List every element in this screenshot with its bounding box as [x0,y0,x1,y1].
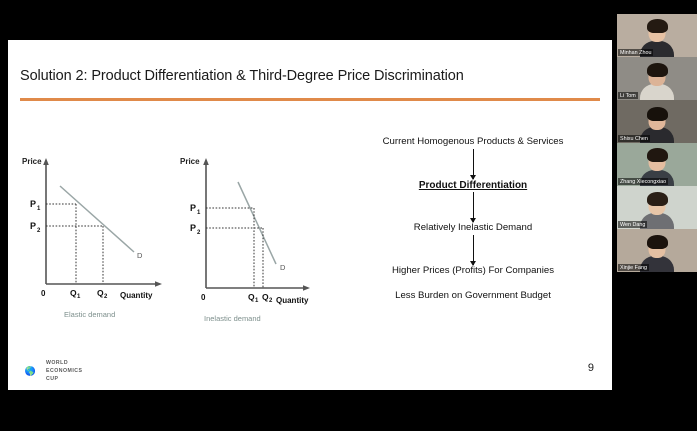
participant-tile[interactable]: Zhang Xiecongxiao [617,143,697,186]
svg-text:1: 1 [197,210,201,216]
sidebar-top-spacer [617,0,697,14]
participant-hair [647,235,668,249]
participant-tile[interactable]: Wen Dang [617,186,697,229]
participant-head [649,195,666,215]
participant-tile[interactable]: Li Tom [617,57,697,100]
chart-inelastic-demand: Price P 1 P 2 0 Q 1 Q 2 Quantity D Inela… [176,152,341,332]
participant-hair [647,19,668,33]
participant-hair [647,107,668,121]
svg-text:Price: Price [180,157,200,166]
globe-icon: 🌎 [20,361,41,382]
elastic-demand-svg: Price P 1 P 2 0 Q 1 Q 2 Quantity D [16,152,181,332]
flow-arrow-2 [473,192,474,222]
page-title: Solution 2: Product Differentiation & Th… [20,68,464,84]
participant-name: Li Tom [618,92,638,99]
participant-head [649,22,666,42]
participant-tile[interactable]: Minhan Zhou [617,14,697,57]
participant-name: Xinjie Fang [618,264,649,271]
participant-hair [647,192,668,206]
participant-head [649,66,666,86]
svg-text:2: 2 [37,228,41,234]
svg-text:Quantity: Quantity [276,296,309,305]
svg-text:Q: Q [97,288,104,298]
svg-text:2: 2 [104,294,108,300]
inelastic-demand-svg: Price P 1 P 2 0 Q 1 Q 2 Quantity D [176,152,341,332]
svg-text:D: D [280,263,286,272]
participant-tile[interactable]: Shixu Chen [617,100,697,143]
chart-caption-elastic: Elastic demand [64,310,115,319]
svg-text:P: P [30,221,36,231]
chart-elastic-demand: Price P 1 P 2 0 Q 1 Q 2 Quantity D Elast… [16,152,181,332]
logo-line-2: ECONOMICS [46,368,83,376]
participant-name: Zhang Xiecongxiao [618,178,668,185]
flow-step-3: Relatively Inelastic Demand [344,222,602,235]
participant-head [649,110,666,130]
logo-line-1: WORLD [46,360,83,368]
svg-text:1: 1 [77,294,81,300]
participant-video-sidebar[interactable]: Minhan Zhou Li Tom Shixu Chen [617,0,697,431]
participant-name: Wen Dang [618,221,647,228]
meeting-screen: Solution 2: Product Differentiation & Th… [0,0,697,431]
flow-step-4b: Less Burden on Government Budget [344,290,602,303]
participant-hair [647,148,668,162]
svg-text:0: 0 [201,293,206,302]
svg-text:P: P [190,203,196,213]
participant-body [640,84,674,100]
flow-step-2: Product Differentiation [344,179,602,193]
svg-text:2: 2 [197,230,201,236]
title-divider [20,98,600,101]
page-number: 9 [588,362,594,374]
participant-head [649,151,666,171]
svg-text:Q: Q [70,288,77,298]
svg-text:2: 2 [269,298,273,304]
flow-step-4a: Higher Prices (Profits) For Companies [344,265,602,278]
svg-text:D: D [137,251,143,260]
svg-text:1: 1 [37,206,41,212]
flow-arrow-1 [473,149,474,179]
svg-text:Price: Price [22,157,42,166]
svg-text:1: 1 [255,298,259,304]
svg-text:Q: Q [248,292,255,302]
participant-name: Minhan Zhou [618,49,653,56]
logo-line-3: CUP [46,376,83,384]
svg-text:P: P [30,199,36,209]
participant-name: Shixu Chen [618,135,650,142]
logo-text: WORLD ECONOMICS CUP [46,360,83,383]
flow-step-1: Current Homogenous Products & Services [344,136,602,149]
globe-glyph: 🌎 [20,361,41,382]
svg-text:P: P [190,223,196,233]
svg-text:0: 0 [41,289,46,298]
svg-text:Q: Q [262,292,269,302]
chart-caption-inelastic: Inelastic demand [204,314,261,323]
participant-head [649,238,666,258]
svg-text:Quantity: Quantity [120,291,153,300]
flow-diagram: Current Homogenous Products & Services P… [344,136,602,303]
flow-arrow-3 [473,235,474,265]
participant-hair [647,63,668,77]
world-economics-cup-logo: 🌎 WORLD ECONOMICS CUP [20,360,83,383]
participant-tile[interactable]: Xinjie Fang [617,229,697,272]
presentation-slide: Solution 2: Product Differentiation & Th… [8,40,612,390]
